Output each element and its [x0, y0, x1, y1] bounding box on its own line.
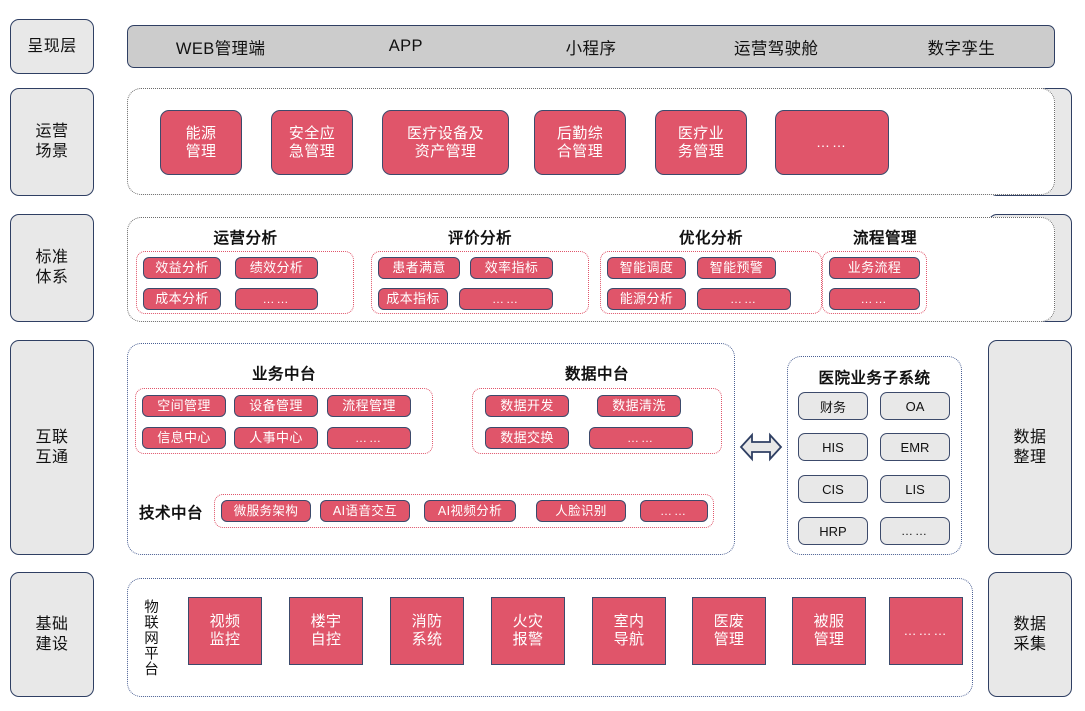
data-item-development[interactable]: 数据开发 — [485, 395, 569, 417]
std-item-intelligent-dispatch[interactable]: 智能调度 — [607, 257, 686, 279]
scenario-energy-management[interactable]: 能源 管理 — [160, 110, 242, 175]
presentation-item-cockpit[interactable]: 运营驾驶舱 — [684, 35, 869, 59]
iot-item-medical-waste[interactable]: 医废 管理 — [692, 597, 766, 665]
scenario-more[interactable]: …… — [775, 110, 889, 175]
iot-item-fire-alarm[interactable]: 火灾 报警 — [491, 597, 565, 665]
scenario-safety-emergency[interactable]: 安全应 急管理 — [271, 110, 353, 175]
std-item-process-more[interactable]: …… — [829, 288, 920, 310]
left-rail-infrastructure[interactable]: 基础 建设 — [10, 572, 94, 697]
double-arrow-icon — [739, 427, 783, 467]
data-item-more[interactable]: …… — [589, 427, 693, 449]
std-item-evaluation-more[interactable]: …… — [459, 288, 553, 310]
biz-item-information-center[interactable]: 信息中心 — [142, 427, 226, 449]
std-item-performance-analysis[interactable]: 绩效分析 — [235, 257, 318, 279]
std-item-business-process[interactable]: 业务流程 — [829, 257, 920, 279]
left-rail-interconnection[interactable]: 互联 互通 — [10, 340, 94, 555]
iot-item-fire-system[interactable]: 消防 系统 — [390, 597, 464, 665]
subsystem-hrp[interactable]: HRP — [798, 517, 868, 545]
right-rail-data-collection-label: 数据 采集 — [1013, 615, 1046, 654]
subsystem-his[interactable]: HIS — [798, 433, 868, 461]
exchange-double-arrow — [739, 427, 783, 467]
tech-item-microservice[interactable]: 微服务架构 — [221, 500, 311, 522]
right-rail-data-organization[interactable]: 数据 整理 — [988, 340, 1072, 555]
iot-platform-label: 物联网平台 — [140, 586, 158, 690]
scenario-logistics-management[interactable]: 后勤综 合管理 — [534, 110, 626, 175]
subsystem-oa[interactable]: OA — [880, 392, 950, 420]
std-item-cost-index[interactable]: 成本指标 — [378, 288, 448, 310]
left-rail-operation-scenarios[interactable]: 运营 场景 — [10, 88, 94, 196]
left-rail-interconnection-label: 互联 互通 — [35, 428, 68, 467]
std-item-cost-analysis[interactable]: 成本分析 — [143, 288, 221, 310]
tech-item-face-recognition[interactable]: 人脸识别 — [536, 500, 626, 522]
biz-item-more[interactable]: …… — [327, 427, 411, 449]
std-item-patient-satisfaction[interactable]: 患者满意 — [378, 257, 460, 279]
std-item-operation-more[interactable]: …… — [235, 288, 318, 310]
subsystem-emr[interactable]: EMR — [880, 433, 950, 461]
tech-item-ai-voice[interactable]: AI语音交互 — [320, 500, 410, 522]
iot-item-linen-management[interactable]: 被服 管理 — [792, 597, 866, 665]
data-item-exchange[interactable]: 数据交换 — [485, 427, 569, 449]
presentation-layer-bar: WEB管理端 APP 小程序 运营驾驶舱 数字孪生 — [127, 25, 1055, 68]
hospital-subsystems-title: 医院业务子系统 — [787, 366, 962, 388]
biz-item-space-management[interactable]: 空间管理 — [142, 395, 226, 417]
scenario-medical-equipment-asset[interactable]: 医疗设备及 资产管理 — [382, 110, 509, 175]
left-rail-standard-system-label: 标准 体系 — [35, 248, 68, 287]
right-rail-data-organization-label: 数据 整理 — [1013, 428, 1046, 467]
left-rail-infrastructure-label: 基础 建设 — [35, 615, 68, 654]
presentation-item-web[interactable]: WEB管理端 — [128, 35, 313, 59]
iot-item-video-surveillance[interactable]: 视频 监控 — [188, 597, 262, 665]
iot-item-building-automation[interactable]: 楼宇 自控 — [289, 597, 363, 665]
architecture-diagram: 呈现层 运营 场景 标准 体系 互联 互通 基础 建设 数据 应用 数据 分析 … — [0, 0, 1085, 711]
tech-item-more[interactable]: …… — [640, 500, 708, 522]
subsystem-cis[interactable]: CIS — [798, 475, 868, 503]
biz-item-hr-center[interactable]: 人事中心 — [234, 427, 318, 449]
std-item-efficiency-index[interactable]: 效率指标 — [470, 257, 553, 279]
left-rail-presentation-label: 呈现层 — [27, 37, 77, 57]
data-item-cleaning[interactable]: 数据清洗 — [597, 395, 681, 417]
presentation-item-miniprogram[interactable]: 小程序 — [498, 35, 683, 59]
biz-item-equipment-management[interactable]: 设备管理 — [234, 395, 318, 417]
left-rail-presentation[interactable]: 呈现层 — [10, 19, 94, 74]
presentation-item-app[interactable]: APP — [313, 37, 498, 56]
business-platform-title: 业务中台 — [136, 362, 432, 384]
subsystem-lis[interactable]: LIS — [880, 475, 950, 503]
biz-item-process-management[interactable]: 流程管理 — [327, 395, 411, 417]
std-item-energy-analysis[interactable]: 能源分析 — [607, 288, 686, 310]
right-rail-data-collection[interactable]: 数据 采集 — [988, 572, 1072, 697]
iot-item-more[interactable]: ……… — [889, 597, 963, 665]
iot-item-indoor-navigation[interactable]: 室内 导航 — [592, 597, 666, 665]
standard-group-title-process-management: 流程管理 — [820, 226, 950, 248]
subsystem-more[interactable]: …… — [880, 517, 950, 545]
std-item-benefit-analysis[interactable]: 效益分析 — [143, 257, 221, 279]
standard-group-title-evaluation-analysis: 评价分析 — [370, 226, 590, 248]
standard-group-title-operation-analysis: 运营分析 — [138, 226, 353, 248]
subsystem-finance[interactable]: 财务 — [798, 392, 868, 420]
tech-item-ai-video[interactable]: AI视频分析 — [424, 500, 516, 522]
std-item-optimization-more[interactable]: …… — [697, 288, 791, 310]
standard-group-title-optimization-analysis: 优化分析 — [600, 226, 822, 248]
data-platform-title: 数据中台 — [472, 362, 722, 384]
presentation-item-digital-twin[interactable]: 数字孪生 — [869, 35, 1054, 59]
std-item-intelligent-warning[interactable]: 智能预警 — [697, 257, 776, 279]
scenario-medical-business[interactable]: 医疗业 务管理 — [655, 110, 747, 175]
left-rail-standard-system[interactable]: 标准 体系 — [10, 214, 94, 322]
tech-platform-title: 技术中台 — [139, 501, 203, 523]
left-rail-operation-scenarios-label: 运营 场景 — [35, 122, 68, 161]
